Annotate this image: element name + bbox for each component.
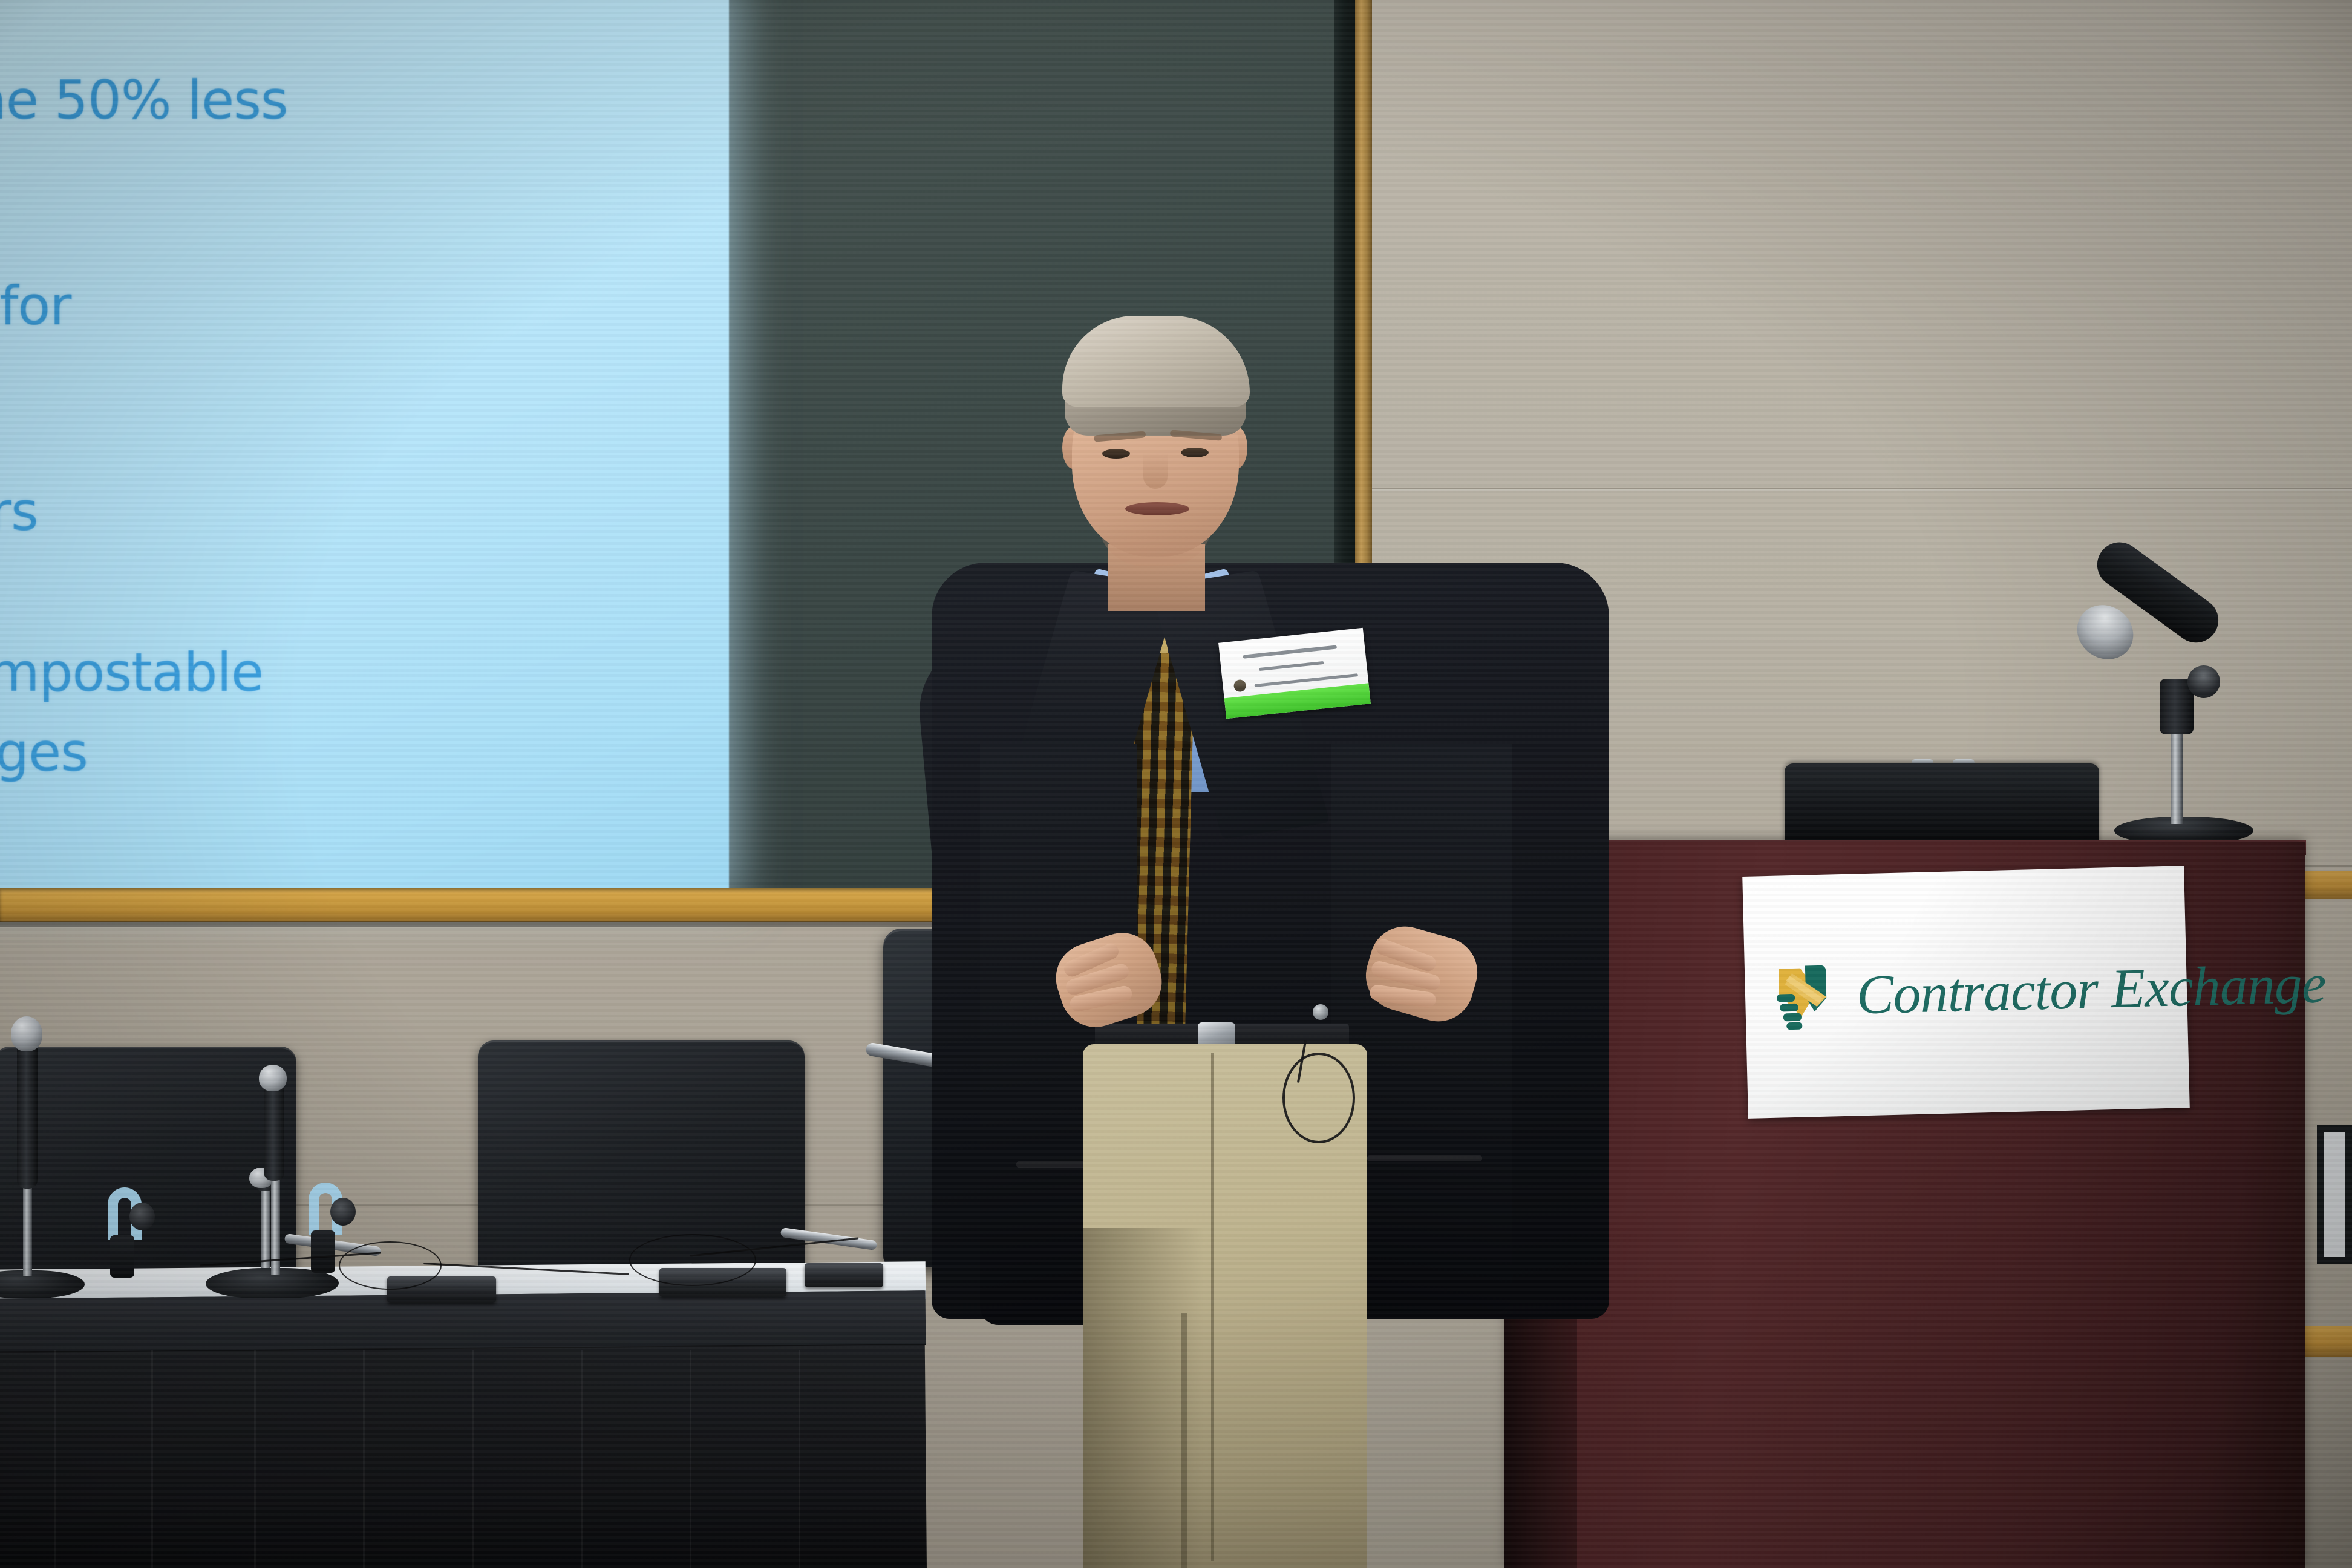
- cable-loop: [339, 1241, 442, 1290]
- trouser-shadow: [1083, 1228, 1204, 1568]
- podium-sign-content: Contractor Exchange: [1742, 866, 2190, 1119]
- podium-sign: Contractor Exchange: [1742, 866, 2190, 1119]
- speaker-hair-top: [1062, 316, 1250, 407]
- audio-device: [805, 1263, 883, 1287]
- chair-rail-right-lower: [2299, 1326, 2352, 1357]
- slide-content: t consume 50% less ontroller for contain…: [0, 0, 729, 892]
- skirt-pleat: [54, 1350, 56, 1568]
- badge-emblem-icon: [1233, 679, 1247, 693]
- lavalier-cable-loop: [1282, 1053, 1355, 1143]
- headset-earcup: [129, 1203, 155, 1230]
- badge-org-line: [1255, 673, 1359, 687]
- microphone-body: [17, 1040, 38, 1189]
- microphone-head: [259, 1065, 287, 1091]
- eye-right: [1181, 448, 1209, 457]
- slide-line-4: uding compostable: [0, 641, 263, 704]
- name-badge: [1218, 628, 1371, 719]
- wall-frame-inner: [2324, 1132, 2345, 1257]
- speaker-mouth: [1125, 502, 1189, 515]
- projected-slide: t consume 50% less ontroller for contain…: [0, 0, 729, 892]
- wall-frame: [2317, 1125, 2352, 1264]
- slide-line-3: containers: [0, 480, 38, 543]
- skirt-pleat: [254, 1350, 256, 1568]
- skirt-pleat: [151, 1350, 153, 1568]
- photo-scene: t consume 50% less ontroller for contain…: [0, 0, 2352, 1568]
- headset-earcup: [330, 1198, 356, 1226]
- slide-line-2: ontroller for: [0, 275, 71, 337]
- podium-sign-brand: Contractor Exchange: [1856, 951, 2327, 1027]
- skirt-pleat: [581, 1350, 583, 1568]
- microphone-stem: [23, 1180, 32, 1276]
- slide-line-1: t consume 50% less: [0, 69, 288, 131]
- eye-left: [1102, 449, 1130, 459]
- skirt-pleat: [363, 1350, 365, 1568]
- badge-sub-line: [1259, 661, 1324, 671]
- cable-loop: [629, 1234, 756, 1286]
- headset-leg: [110, 1235, 134, 1278]
- microphone-body: [264, 1083, 284, 1181]
- speaker: [944, 321, 1609, 1568]
- badge-name-line: [1243, 645, 1337, 658]
- jacket-button: [1313, 1004, 1328, 1020]
- handshake-logo-icon: [1774, 959, 1842, 1033]
- skirt-pleat: [472, 1350, 474, 1568]
- slide-line-5: d beverages: [0, 721, 88, 783]
- skirt-pleat: [690, 1350, 691, 1568]
- speaker-nose: [1143, 452, 1168, 489]
- skirt-pleat: [799, 1350, 800, 1568]
- microphone-head: [11, 1016, 42, 1051]
- headset-leg: [311, 1230, 335, 1273]
- jacket-pocket-flap: [1367, 1155, 1482, 1161]
- trouser-crease: [1211, 1053, 1214, 1561]
